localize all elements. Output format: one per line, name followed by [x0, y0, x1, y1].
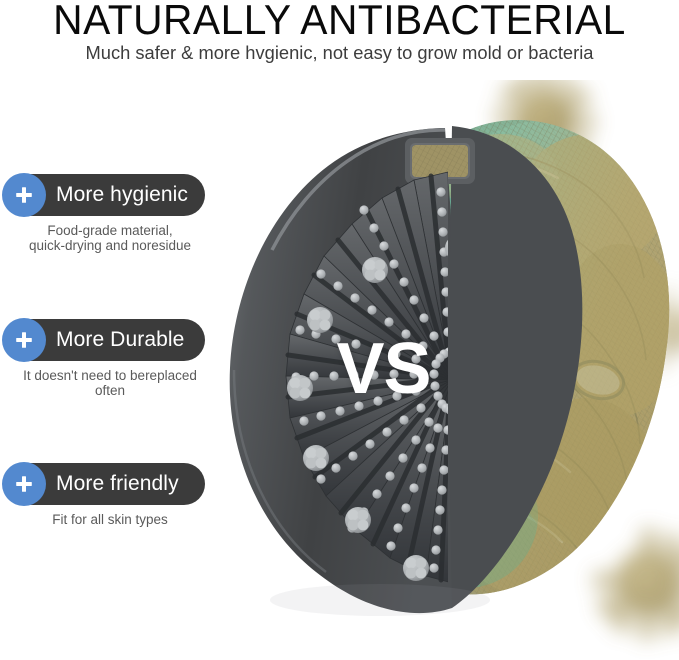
feature-label: More friendly — [56, 472, 179, 496]
feature-caption-line-2: often — [0, 383, 220, 398]
plus-icon — [2, 318, 46, 362]
product-comparison-image — [200, 80, 679, 660]
feature-label: More Durable — [56, 328, 184, 352]
feature-caption-line-2: quick-drying and noresidue — [0, 238, 220, 253]
page-title: NATURALLY ANTIBACTERIAL — [10, 0, 669, 42]
germ-particle-bottom-right — [594, 529, 679, 639]
feature-caption-line-1: Fit for all skin types — [0, 512, 220, 527]
page-subtitle: Much safer & more hvgienic, not easy to … — [3, 42, 675, 64]
plus-icon — [2, 462, 46, 506]
feature-pill[interactable]: More friendly — [6, 463, 205, 505]
feature-caption-line-1: Food-grade material, — [0, 223, 220, 238]
marketing-infographic: NATURALLY ANTIBACTERIAL Much safer & mor… — [0, 0, 679, 660]
feature-pill[interactable]: More Durable — [6, 319, 205, 361]
feature-item-more-friendly: More friendly Fit for all skin types — [0, 463, 220, 527]
feature-caption: Food-grade material, quick-drying and no… — [0, 223, 220, 253]
feature-caption: Fit for all skin types — [0, 512, 220, 527]
feature-label: More hygienic — [56, 183, 188, 207]
feature-item-more-hygienic: More hygienic Food-grade material, quick… — [0, 174, 220, 253]
plus-icon — [2, 173, 46, 217]
feature-caption: It doesn't need to bereplaced often — [0, 368, 220, 398]
feature-caption-line-1: It doesn't need to bereplaced — [0, 368, 220, 383]
feature-item-more-durable: More Durable It doesn't need to bereplac… — [0, 319, 220, 398]
feature-pill[interactable]: More hygienic — [6, 174, 205, 216]
